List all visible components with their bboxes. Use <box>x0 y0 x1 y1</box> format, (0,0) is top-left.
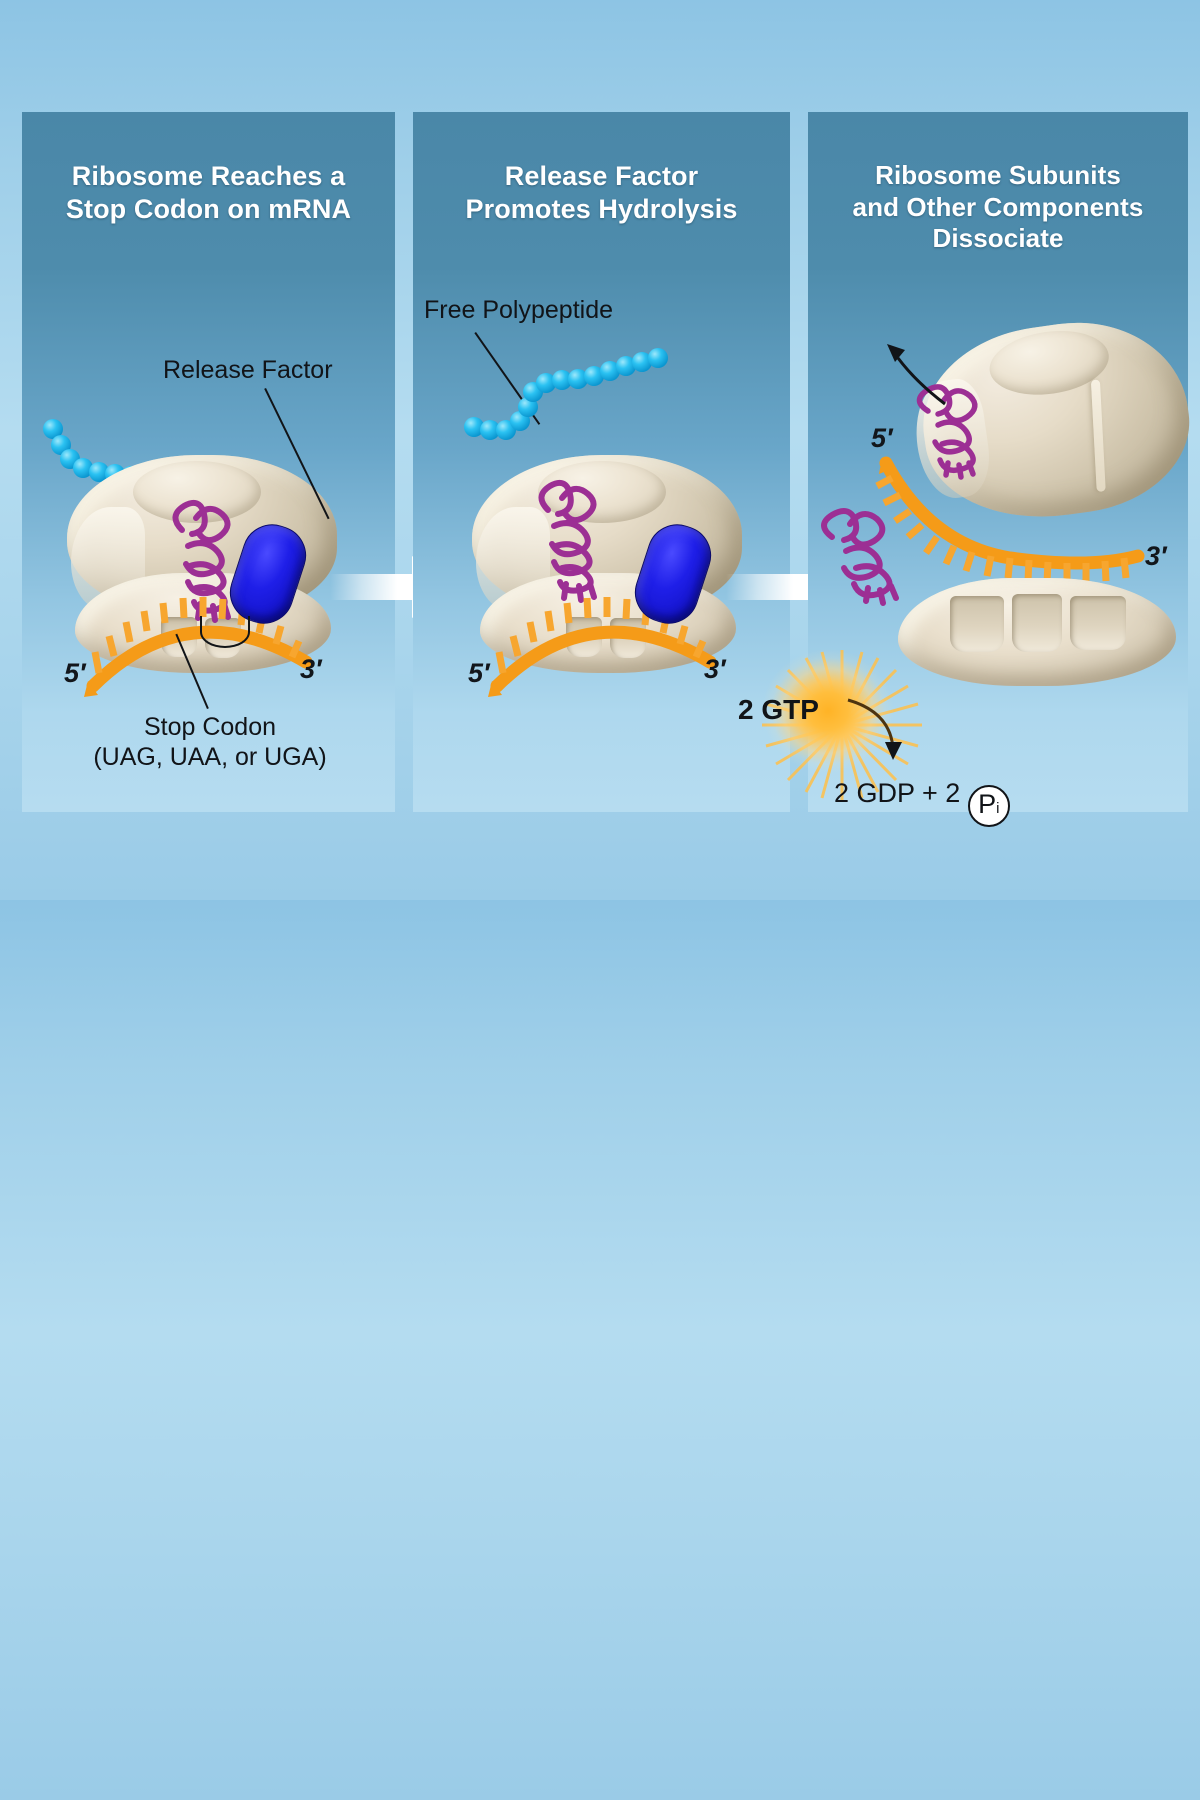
arrow-tail <box>330 574 420 600</box>
three-prime-label-panel-3: 3′ <box>1145 541 1167 572</box>
five-prime-label-panel-2: 5′ <box>468 658 490 689</box>
arrow-tail <box>726 574 816 600</box>
ribosome-binding-site <box>566 617 602 657</box>
ribosome-binding-site <box>610 618 646 658</box>
panel-3-title: Ribosome Subunits and Other Components D… <box>808 160 1188 255</box>
stop-codon-label: Stop Codon (UAG, UAA, or UGA) <box>50 712 370 772</box>
three-prime-label-panel-1: 3′ <box>300 654 322 685</box>
trna-panel-1 <box>0 900 1200 1800</box>
gdp-label: 2 GDP + 2 Pi <box>834 778 1010 827</box>
pi-letter: P <box>978 789 996 820</box>
stop-codon-bracket <box>200 616 250 648</box>
pi-subscript: i <box>996 800 999 817</box>
inorganic-phosphate-symbol: Pi <box>968 785 1010 827</box>
ribosome-binding-site <box>1070 596 1126 650</box>
panel-2-title: Release Factor Promotes Hydrolysis <box>413 160 790 226</box>
dissociating-small-subunit <box>898 578 1178 690</box>
release-factor-label: Release Factor <box>163 355 333 385</box>
ribosome-lobe <box>133 461 261 523</box>
ribosome-binding-site <box>1012 594 1062 652</box>
ribosome-binding-site <box>950 596 1004 652</box>
figure-canvas: Ribosome Reaches a Stop Codon on mRNA <box>0 0 1200 900</box>
five-prime-label-panel-1: 5′ <box>64 658 86 689</box>
dissociating-large-subunit <box>911 307 1200 557</box>
ribosome-lobe <box>538 461 666 523</box>
five-prime-label-panel-3: 5′ <box>871 423 893 454</box>
free-polypeptide-label: Free Polypeptide <box>424 295 613 325</box>
gdp-text: 2 GDP + 2 <box>834 778 960 808</box>
gtp-label: 2 GTP <box>738 694 819 726</box>
three-prime-label-panel-2: 3′ <box>704 654 726 685</box>
panel-1-title: Ribosome Reaches a Stop Codon on mRNA <box>22 160 395 226</box>
